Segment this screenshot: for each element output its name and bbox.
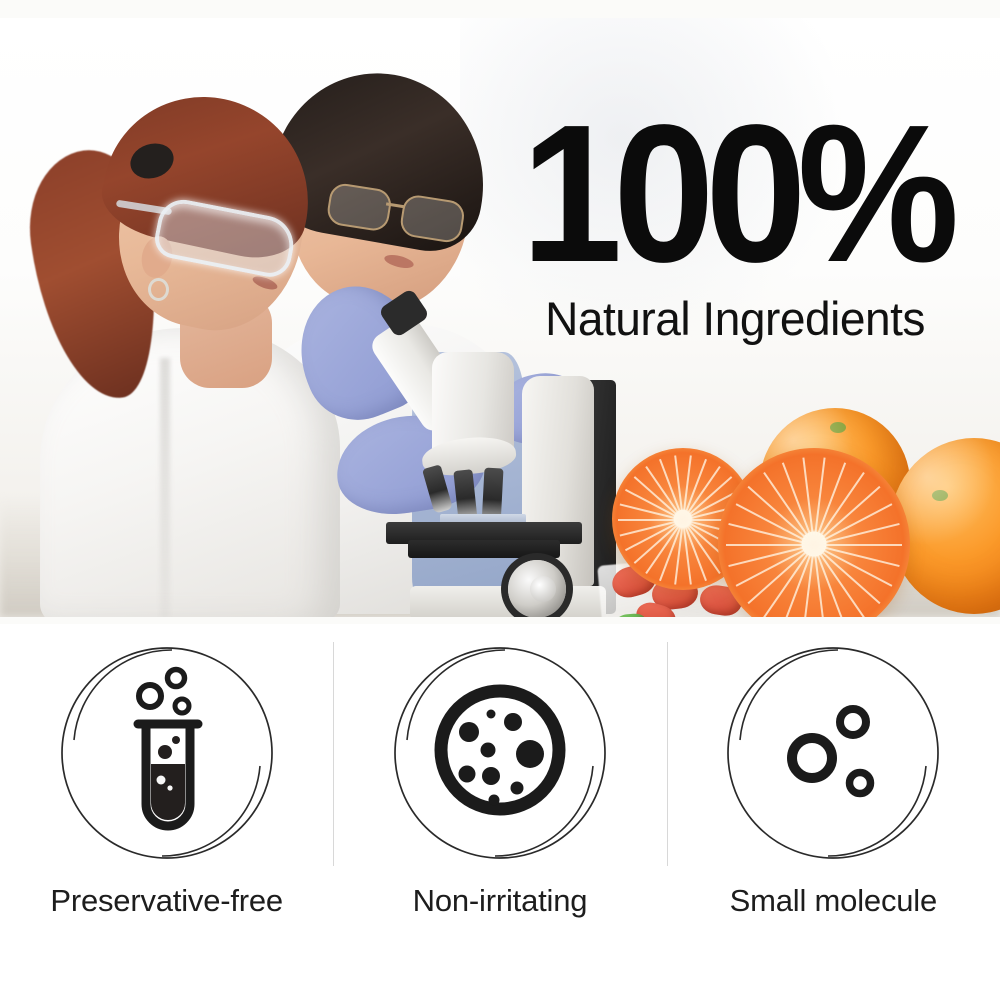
microscope-stage-lower — [408, 540, 560, 558]
feature-label: Non-irritating — [413, 884, 588, 918]
fine-focus-knob — [530, 576, 556, 602]
feature-small-molecule[interactable]: Small molecule — [667, 624, 1000, 1000]
orange-segment — [814, 544, 902, 546]
orange-segment — [726, 544, 814, 546]
percent-value: 100% — [521, 114, 949, 275]
headline-block: 100% Natural Ingredients — [505, 114, 965, 342]
orange-stem — [830, 422, 846, 433]
hero-photo-banner: 100% Natural Ingredients — [0, 18, 1000, 617]
orange-stem — [932, 490, 948, 501]
orange-segment — [618, 519, 683, 521]
small-molecule-rings-icon — [720, 640, 946, 866]
headline-subtitle: Natural Ingredients — [510, 295, 961, 342]
test-tube-with-bubbles-icon — [54, 640, 280, 866]
product-feature-banner: 100% Natural Ingredients — [0, 0, 1000, 1000]
petri-dish-with-colonies-icon — [387, 640, 613, 866]
earring — [148, 278, 169, 301]
feature-row: Preservative-free — [0, 624, 1000, 1000]
feature-preservative-free[interactable]: Preservative-free — [0, 624, 333, 1000]
feature-non-irritating[interactable]: Non-irritating — [333, 624, 666, 1000]
feature-label: Small molecule — [730, 884, 937, 918]
feature-label: Preservative-free — [50, 884, 283, 918]
